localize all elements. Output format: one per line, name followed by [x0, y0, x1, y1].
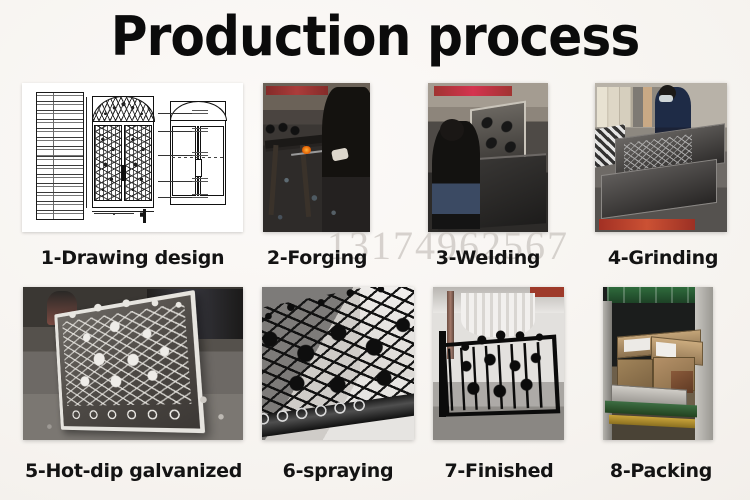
- step-label-packing: 8-Packing: [598, 460, 724, 482]
- yellow-beam: [609, 415, 695, 429]
- step-label-drawing-design: 1-Drawing design: [22, 247, 243, 269]
- photo-banner-text: [434, 86, 512, 96]
- worker-head: [440, 119, 464, 141]
- scrap-pile: [263, 121, 303, 137]
- annotation-leader-1: [158, 113, 192, 114]
- step-label-hot-dip-galvanized: 5-Hot-dip galvanized: [16, 460, 251, 482]
- gate-post: [439, 331, 446, 417]
- detail-sketch-icon: [94, 213, 134, 222]
- spec-table-icon: [36, 92, 84, 220]
- step-image-welding[interactable]: [428, 83, 548, 232]
- face-mask: [659, 95, 673, 102]
- background-panels: [597, 87, 661, 127]
- step-label-welding: 3-Welding: [408, 247, 568, 269]
- ornate-door-elevation-icon: [92, 96, 154, 208]
- annotation-leader-5: [158, 197, 192, 198]
- cad-drawing-illustration: [22, 83, 243, 232]
- production-process-infographic: Production process: [0, 0, 750, 500]
- step-label-spraying: 6-spraying: [258, 460, 418, 482]
- step-image-packing[interactable]: [603, 287, 713, 440]
- spraying-photo: [262, 287, 414, 440]
- annotation-leader-4: [158, 181, 192, 182]
- container-ceiling: [607, 287, 697, 303]
- grinding-photo: [595, 83, 727, 232]
- step-image-drawing-design[interactable]: [22, 83, 243, 232]
- step-image-spraying[interactable]: [262, 287, 414, 440]
- annotation-leader-3: [158, 155, 192, 156]
- floor-debris: [23, 379, 243, 440]
- photo-banner-text: [266, 86, 328, 95]
- step-image-forging[interactable]: [263, 83, 370, 232]
- floor-debris: [263, 158, 370, 233]
- step-image-hot-dip-galvanized[interactable]: [23, 287, 243, 440]
- step-label-finished: 7-Finished: [428, 460, 570, 482]
- step-image-grinding[interactable]: [595, 83, 727, 232]
- finished-gate-photo: [433, 287, 564, 440]
- heated-metal-glow: [301, 146, 312, 154]
- galvanizing-photo: [23, 287, 243, 440]
- welding-photo: [428, 83, 548, 232]
- step-label-grinding: 4-Grinding: [588, 247, 738, 269]
- step-image-finished[interactable]: [433, 287, 564, 440]
- step-label-forging: 2-Forging: [248, 247, 386, 269]
- forging-photo: [263, 83, 370, 232]
- annotation-leader-2: [158, 131, 192, 132]
- page-title: Production process: [26, 4, 724, 70]
- photo-banner-text: [599, 219, 695, 230]
- dimension-line-vertical: [86, 97, 87, 208]
- packing-photo: [603, 287, 713, 440]
